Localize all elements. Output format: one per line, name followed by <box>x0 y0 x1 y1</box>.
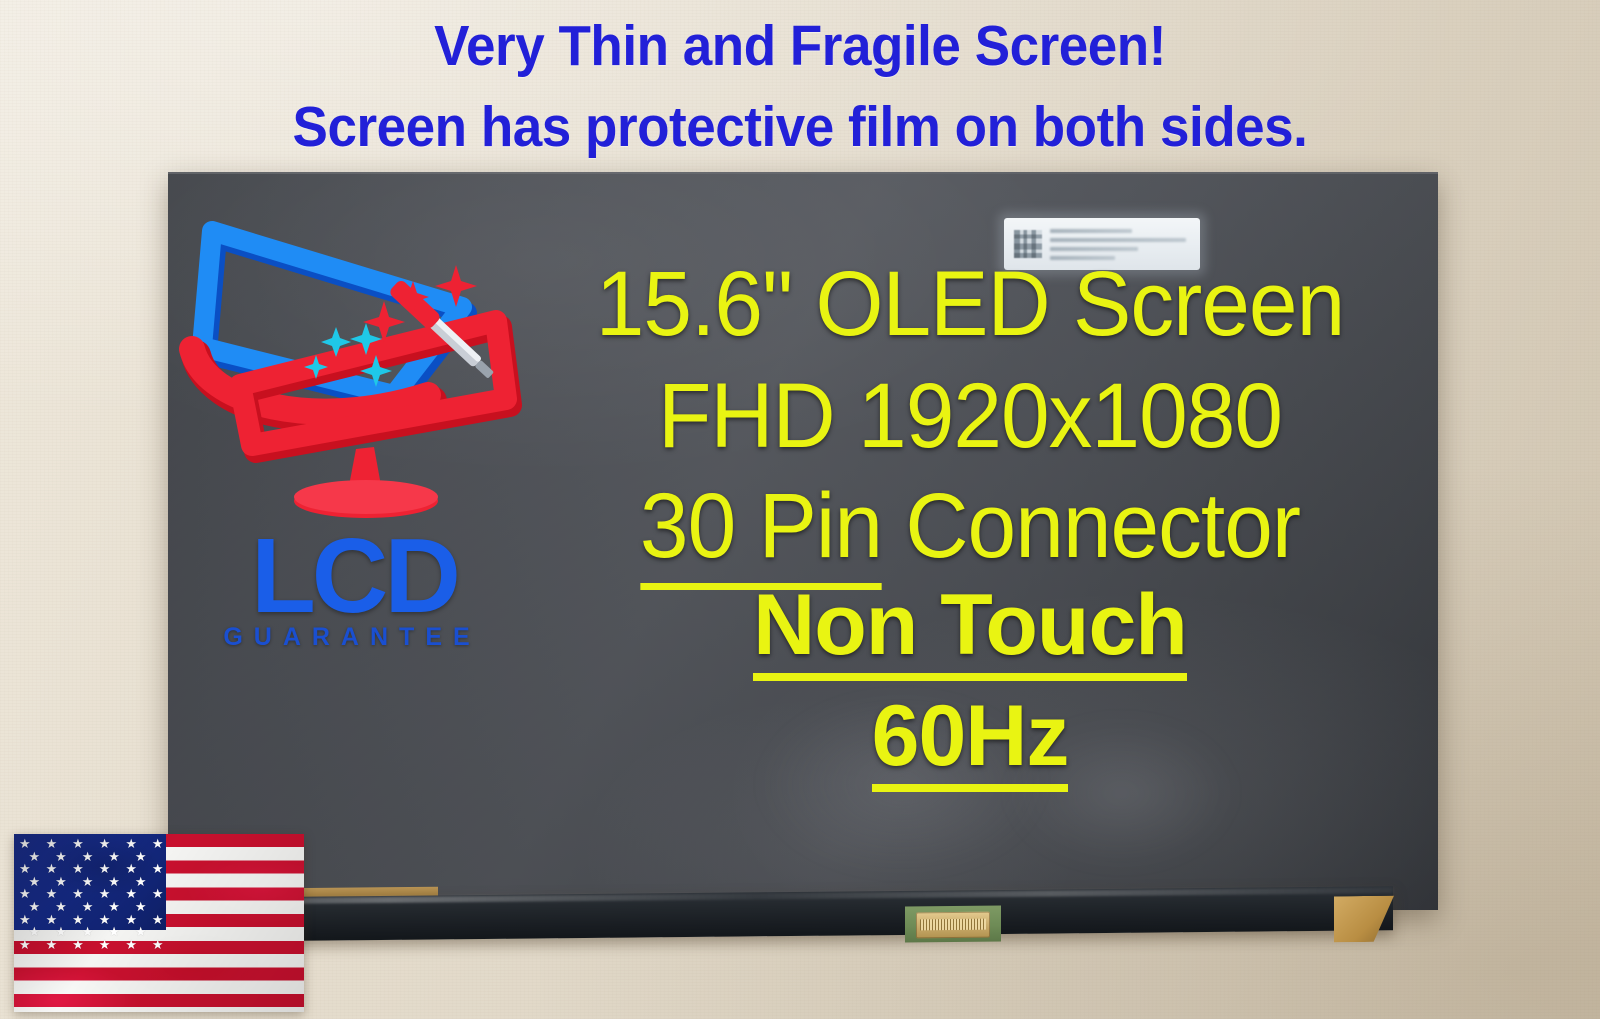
spec-connector-word: Connector <box>882 475 1300 577</box>
thirty-pin-connector <box>916 912 990 939</box>
spec-connector: 30 Pin Connector <box>543 480 1398 572</box>
spec-resolution: FHD 1920x1080 <box>543 370 1398 462</box>
lcd-guarantee-logo: LCD GUARANTEE <box>170 205 530 670</box>
connector-pins <box>920 919 986 931</box>
spec-refresh-rate: 60Hz <box>520 693 1420 792</box>
monitor-logo-icon <box>170 205 530 535</box>
product-listing-image: Very Thin and Fragile Screen! Screen has… <box>0 0 1600 1019</box>
flag-shading <box>14 834 304 1012</box>
spec-connector-pins: 30 Pin <box>640 475 882 590</box>
us-flag-badge: ★ ★ ★ ★ ★ ★ ★ ★ ★ ★ ★ ★ ★ ★ ★ ★ ★ ★ ★ ★ … <box>14 834 304 1012</box>
logo-tagline: GUARANTEE <box>176 623 528 652</box>
headline-line-1: Very Thin and Fragile Screen! <box>56 6 1544 87</box>
spec-touch: Non Touch <box>520 582 1420 681</box>
logo-wordmark: LCD <box>178 523 530 629</box>
spec-list: 15.6" OLED Screen FHD 1920x1080 30 Pin C… <box>520 258 1420 792</box>
spec-size: 15.6" OLED Screen <box>543 258 1398 350</box>
panel-top-highlight <box>168 172 1438 174</box>
headline-line-2: Screen has protective film on both sides… <box>56 87 1544 168</box>
headline-banner: Very Thin and Fragile Screen! Screen has… <box>56 6 1544 168</box>
